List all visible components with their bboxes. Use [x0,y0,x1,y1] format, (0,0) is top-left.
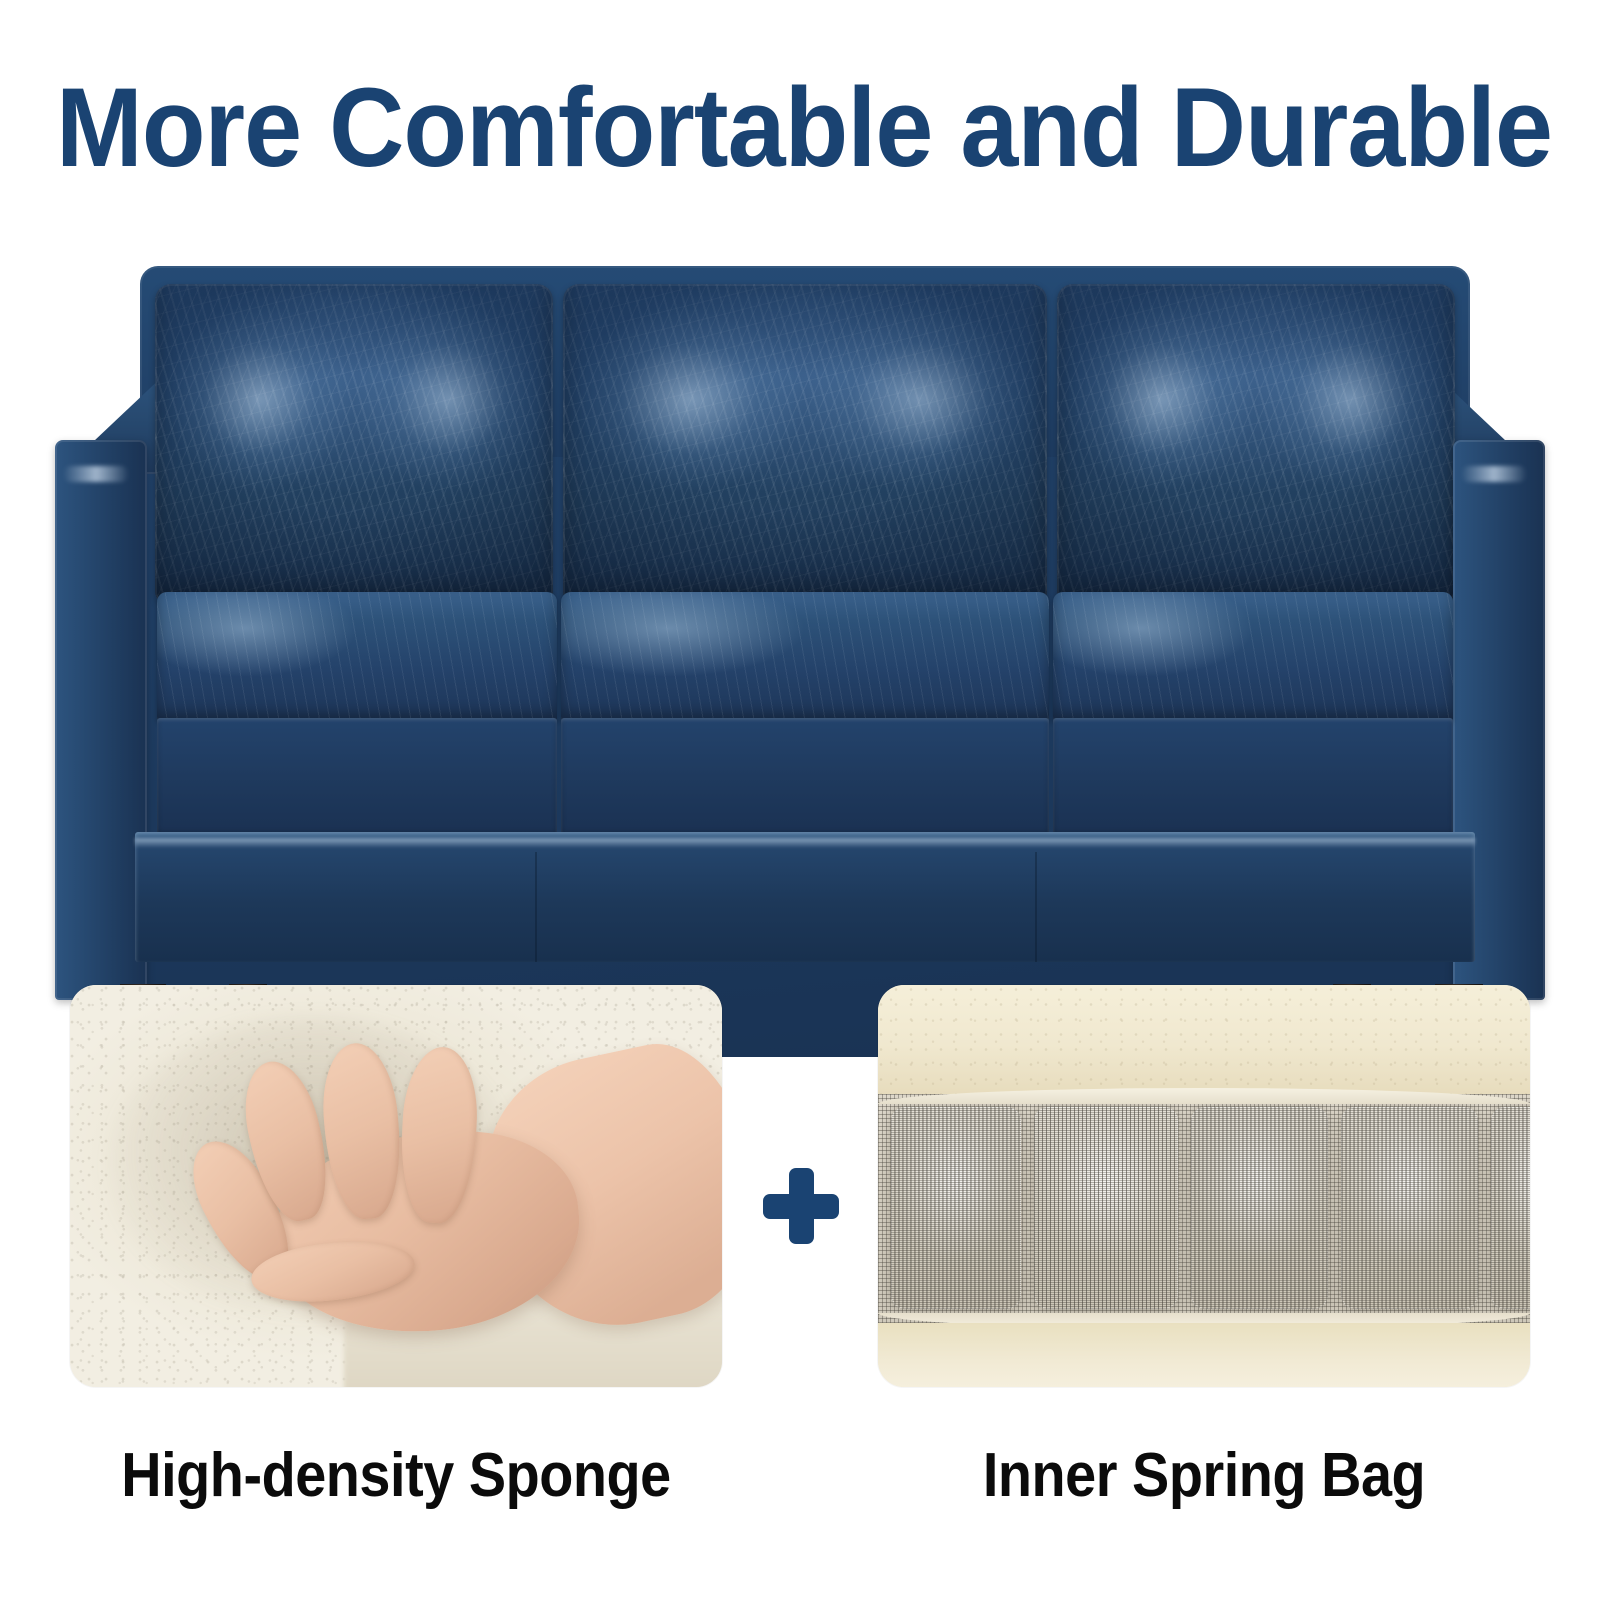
seat-cushion [1053,592,1453,722]
sofa-seat-cushions [157,592,1453,722]
feature-image-inner-spring-bag [878,985,1530,1387]
seat-cushion-front [561,718,1049,836]
page-title: More Comfortable and Durable [56,72,1544,184]
product-feature-graphic: More Comfortable and Durable [0,0,1600,1600]
sofa-seat-fronts [157,718,1453,836]
pocket-coil [891,1107,1021,1309]
hero-product-image [45,262,1555,902]
pocket-coil [1341,1107,1478,1309]
sofa-base-skirt [135,832,1475,962]
skirt-seam [1035,852,1037,962]
foam-layer-bottom [878,1323,1530,1387]
sofa-arm-left [55,440,147,1000]
foam-texture [878,985,1530,1094]
seat-cushion [561,592,1049,722]
pocket-coil [1491,1107,1530,1309]
seat-cushion [157,592,557,722]
feature-label-inner-spring-bag: Inner Spring Bag [911,1438,1498,1514]
pocket-coil [1191,1107,1328,1309]
plus-bar-vertical [789,1168,814,1244]
back-cushion [155,284,553,602]
hand-pressing [142,1033,690,1371]
sofa-back-cushions [155,284,1455,602]
back-cushion [1057,284,1455,602]
plus-icon [763,1168,839,1244]
feature-image-high-density-sponge [70,985,722,1387]
mesh-pocket-band [878,1094,1530,1323]
skirt-seam [535,852,537,962]
seat-cushion-front [157,718,557,836]
back-cushion [563,284,1047,602]
foam-layer-top [878,985,1530,1094]
seat-cushion-front [1053,718,1453,836]
sofa-illustration [45,262,1555,902]
feature-label-high-density-sponge: High-density Sponge [103,1438,690,1514]
pocket-coil [1034,1107,1177,1309]
